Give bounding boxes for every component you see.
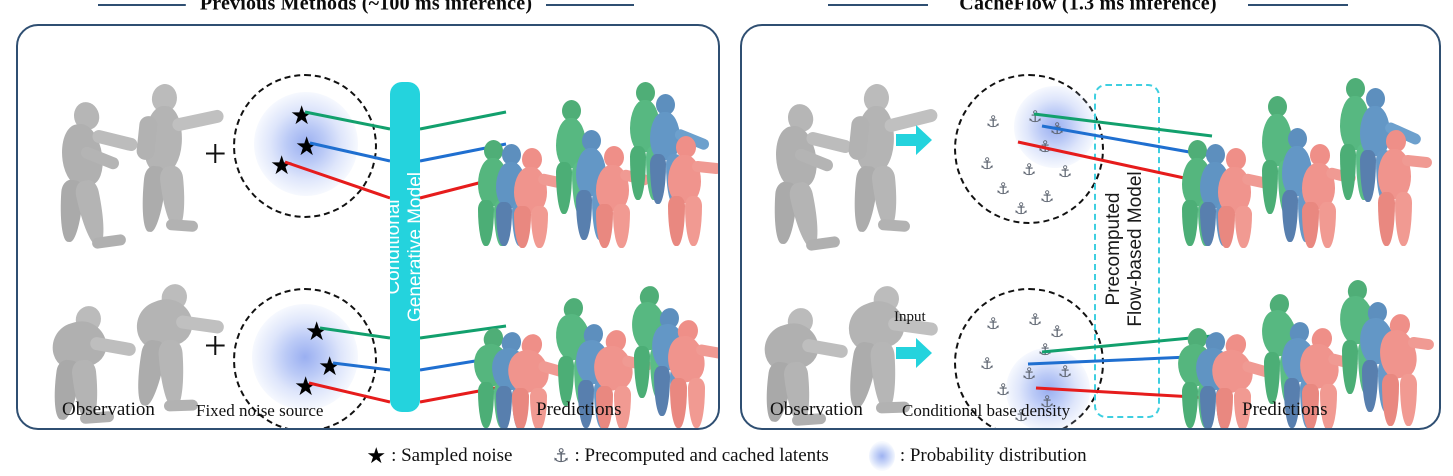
cached-latent-anchor: ⚓ xyxy=(1022,366,1036,382)
cached-latent-anchor: ⚓ xyxy=(1040,189,1054,205)
cgm-label-line1: Conditional xyxy=(383,199,404,294)
cached-latent-anchor: ⚓ xyxy=(1022,162,1036,178)
cached-latent-anchor: ⚓ xyxy=(1028,312,1042,328)
cached-latent-anchor: ⚓ xyxy=(1058,164,1072,180)
panel-left-stage: + + ★ ★ ★ ★ ★ ★ C xyxy=(18,26,718,428)
cached-latent-anchor: ⚓ xyxy=(986,316,1000,332)
legend-item-cached-latents: ⚓ : Precomputed and cached latents xyxy=(552,445,828,467)
prediction-figure xyxy=(1370,130,1432,248)
legend-label-sampled-noise: : Sampled noise xyxy=(391,445,512,467)
prediction-figure xyxy=(1374,312,1436,428)
title-rule-right xyxy=(1248,4,1348,6)
cached-latent-anchor: ⚓ xyxy=(1014,201,1028,217)
panel-title-cacheflow: CacheFlow (1.3 ms inference) xyxy=(945,0,1230,16)
predictions-group xyxy=(1174,74,1428,248)
cgm-label-line2: Generative Model xyxy=(405,172,426,322)
caption-predictions: Predictions xyxy=(536,399,622,421)
cached-latent-anchor: ⚓ xyxy=(980,156,994,172)
star-icon: ★ xyxy=(366,445,386,467)
cached-latent-anchor: ⚓ xyxy=(1038,139,1052,155)
caption-base-density: Conditional base density xyxy=(902,401,1070,421)
title-rule-left xyxy=(546,4,634,6)
prediction-figure xyxy=(662,318,718,428)
legend: ★ : Sampled noise ⚓ : Precomputed and ca… xyxy=(0,436,1453,476)
caption-observation: Observation xyxy=(770,399,863,421)
title-rule-right xyxy=(828,4,928,6)
observation-figure xyxy=(834,84,934,234)
plus-sign: + xyxy=(204,134,227,174)
predictions-group xyxy=(470,78,718,248)
cached-latent-anchor: ⚓ xyxy=(996,382,1010,398)
caption-observation: Observation xyxy=(62,399,155,421)
input-arrow-icon xyxy=(894,336,934,370)
precomputed-flow-based-model-label: Precomputed Flow-based Model xyxy=(1103,171,1147,326)
anchor-icon: ⚓ xyxy=(552,447,569,466)
pfm-label-line1: Precomputed xyxy=(1103,193,1124,306)
conditional-generative-model-label: Conditional Generative Model xyxy=(383,172,427,322)
panel-right-stage: Input ⚓ ⚓ ⚓ ⚓ ⚓ ⚓ ⚓ ⚓ ⚓ ⚓ ⚓ ⚓ ⚓ ⚓ ⚓ ⚓ ⚓ … xyxy=(742,26,1439,428)
panel-cacheflow: Input ⚓ ⚓ ⚓ ⚓ ⚓ ⚓ ⚓ ⚓ ⚓ ⚓ ⚓ ⚓ ⚓ ⚓ ⚓ ⚓ ⚓ … xyxy=(740,24,1441,430)
legend-item-sampled-noise: ★ : Sampled noise xyxy=(366,445,512,467)
caption-noise-source: Fixed noise source xyxy=(196,401,323,421)
caption-predictions: Predictions xyxy=(1242,399,1328,421)
input-arrow-icon xyxy=(894,123,934,157)
caption-input: Input xyxy=(894,309,926,326)
sampled-noise-star: ★ xyxy=(318,354,341,380)
cached-latent-anchor: ⚓ xyxy=(986,114,1000,130)
legend-item-probability-distribution: : Probability distribution xyxy=(869,441,1087,471)
cached-latent-anchor: ⚓ xyxy=(1050,121,1064,137)
pfm-label-line2: Flow-based Model xyxy=(1125,171,1146,326)
cached-latent-anchor: ⚓ xyxy=(1050,324,1064,340)
legend-label-probability-distribution: : Probability distribution xyxy=(900,445,1087,467)
sampled-noise-star: ★ xyxy=(294,374,317,400)
panel-title-previous-methods: Previous Methods (~100 ms inference) xyxy=(186,0,546,16)
sampled-noise-star: ★ xyxy=(295,134,318,160)
cached-latent-anchor: ⚓ xyxy=(1028,109,1042,125)
cached-latent-anchor: ⚓ xyxy=(980,356,994,372)
cached-latent-anchor: ⚓ xyxy=(1038,342,1052,358)
gaussian-blob-icon xyxy=(869,441,895,471)
panel-previous-methods: + + ★ ★ ★ ★ ★ ★ C xyxy=(16,24,720,430)
title-rule-left xyxy=(98,4,186,6)
cached-latent-anchor: ⚓ xyxy=(996,181,1010,197)
plus-sign: + xyxy=(204,326,227,366)
sampled-noise-star: ★ xyxy=(270,153,293,179)
cached-latent-anchor: ⚓ xyxy=(1058,364,1072,380)
prediction-figure xyxy=(660,136,718,248)
sampled-noise-star: ★ xyxy=(305,319,328,345)
legend-label-cached-latents: : Precomputed and cached latents xyxy=(575,445,829,467)
sampled-noise-star: ★ xyxy=(290,103,313,129)
